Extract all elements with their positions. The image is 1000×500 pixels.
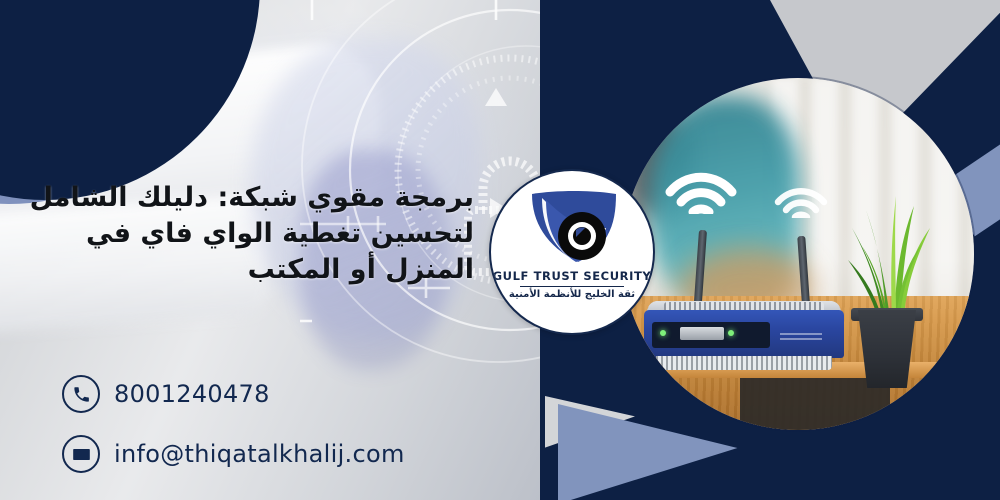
router-led-left xyxy=(660,330,666,336)
plant-leaves xyxy=(844,188,936,318)
logo-name-en: GULF TRUST SECURITY xyxy=(493,269,652,283)
email-address: info@thiqatalkhalij.com xyxy=(114,440,405,468)
router-photo-circle xyxy=(622,78,974,430)
logo[interactable]: GULF TRUST SECURITY ثقة الخليج للأنظمة ا… xyxy=(489,169,655,335)
phone-number: 8001240478 xyxy=(114,380,270,408)
router-brand-label xyxy=(780,330,822,340)
router-port-strip xyxy=(680,327,724,340)
envelope-icon xyxy=(62,435,100,473)
contact-row-phone[interactable]: 8001240478 xyxy=(62,375,405,413)
logo-divider xyxy=(520,286,624,288)
router-base-vents xyxy=(656,356,832,370)
shield-camera-icon xyxy=(518,188,626,266)
contact-block: 8001240478 info@thiqatalkhalij.com xyxy=(62,375,405,495)
router-led-right xyxy=(728,330,734,336)
page-title: برمجة مقوي شبكة: دليلك الشامل لتحسين تغط… xyxy=(22,180,474,289)
logo-name-ar: ثقة الخليج للأنظمة الأمنية xyxy=(509,289,635,300)
phone-icon xyxy=(62,375,100,413)
wifi-signal-large-icon xyxy=(664,162,738,214)
contact-row-email[interactable]: info@thiqatalkhalij.com xyxy=(62,435,405,473)
banner: برمجة مقوي شبكة: دليلك الشامل لتحسين تغط… xyxy=(0,0,1000,500)
wifi-signal-small-icon xyxy=(774,180,828,218)
